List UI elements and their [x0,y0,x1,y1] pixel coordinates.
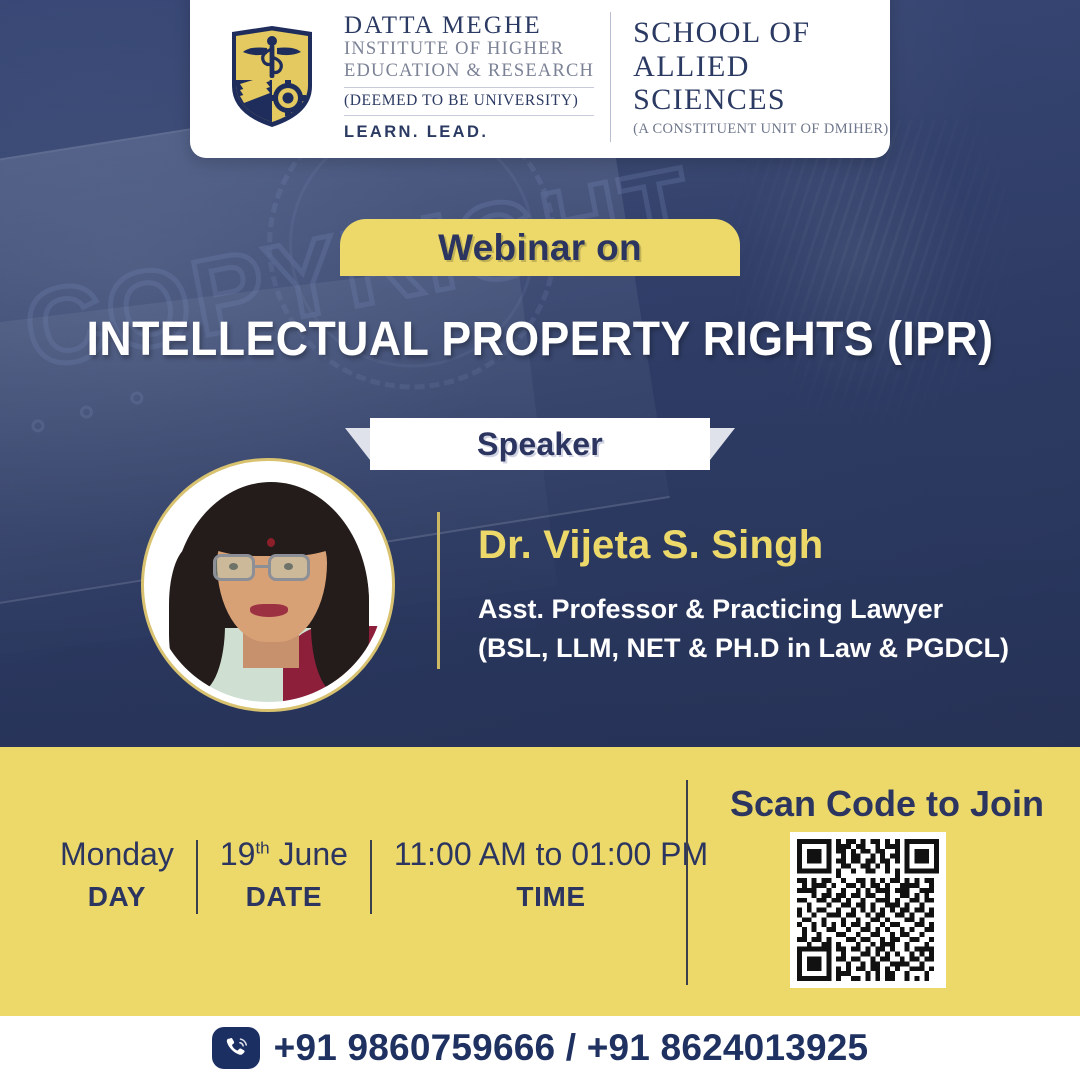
speaker-gold-divider [437,512,440,669]
institution-header-card: DATTA MEGHE INSTITUTE OF HIGHER EDUCATIO… [190,0,890,158]
contact-numbers: +91 9860759666 / +91 8624013925 [274,1027,869,1069]
speaker-name: Dr. Vijeta S. Singh [478,523,823,568]
schedule-day-label: DAY [60,881,174,913]
school-constituent-line: (A CONSTITUENT UNIT OF DMIHER) [633,121,889,138]
schedule-date-value: 19th June [220,837,348,872]
school-name-block: SCHOOL OF ALLIED SCIENCES (A CONSTITUENT… [611,16,889,138]
schedule-date-number: 19 [220,836,256,872]
ribbon-body: Speaker [370,418,710,470]
phone-call-icon [212,1027,260,1069]
schedule-row: Monday DAY 19th June DATE 11:00 AM to 01… [38,837,730,914]
page-title: INTELLECTUAL PROPERTY RIGHTS (IPR) [38,312,1042,367]
avatar [151,468,385,702]
university-subtitle-line2: EDUCATION & RESEARCH [344,61,594,83]
speaker-photo-gold-ring [141,458,395,712]
webinar-kicker-tab: Webinar on [340,219,740,276]
university-subtitle-line1: INSTITUTE OF HIGHER [344,39,564,61]
schedule-time-value: 11:00 AM to 01:00 PM [394,837,708,872]
speaker-ribbon: Speaker [345,418,735,470]
speaker-ribbon-label: Speaker [477,426,603,463]
contact-footer: +91 9860759666 / +91 8624013925 [0,1016,1080,1080]
schedule-time: 11:00 AM to 01:00 PM TIME [372,837,730,913]
ribbon-tail-left [345,428,370,460]
qr-code[interactable] [790,832,946,988]
scan-code-title: Scan Code to Join [730,783,1044,825]
speaker-designation: Asst. Professor & Practicing Lawyer [478,590,1009,629]
school-line-1: SCHOOL OF [633,16,889,50]
header-rule-bottom [344,115,594,116]
details-band: Monday DAY 19th June DATE 11:00 AM to 01… [0,747,1080,1016]
schedule-time-label: TIME [394,881,708,913]
dmiher-shield-crest-icon [226,24,318,130]
qr-code-graphic [797,839,939,981]
header-rule-top [344,87,594,88]
deemed-university-line: (DEEMED TO BE UNIVERSITY) [344,92,578,111]
schedule-date-month: June [270,836,348,872]
webinar-poster: COPYRIGHT [0,0,1080,1080]
schedule-date-ordinal: th [255,838,269,857]
speaker-photo-frame [141,465,406,705]
speaker-qualifications: (BSL, LLM, NET & PH.D in Law & PGDCL) [478,629,1009,668]
schedule-day: Monday DAY [38,837,196,913]
university-name-block: DATTA MEGHE INSTITUTE OF HIGHER EDUCATIO… [332,12,611,141]
school-line-3: SCIENCES [633,83,889,117]
webinar-kicker-label: Webinar on [438,227,642,269]
schedule-day-value: Monday [60,837,174,872]
speaker-credentials: Asst. Professor & Practicing Lawyer (BSL… [478,590,1009,668]
schedule-date-label: DATE [220,881,348,913]
band-vertical-divider [686,780,688,985]
schedule-date: 19th June DATE [198,837,370,913]
school-line-2: ALLIED [633,50,889,84]
ribbon-tail-right [710,428,735,460]
university-tagline: LEARN. LEAD. [344,123,488,142]
university-name: DATTA MEGHE [344,12,542,39]
phone-glyph [223,1035,249,1061]
